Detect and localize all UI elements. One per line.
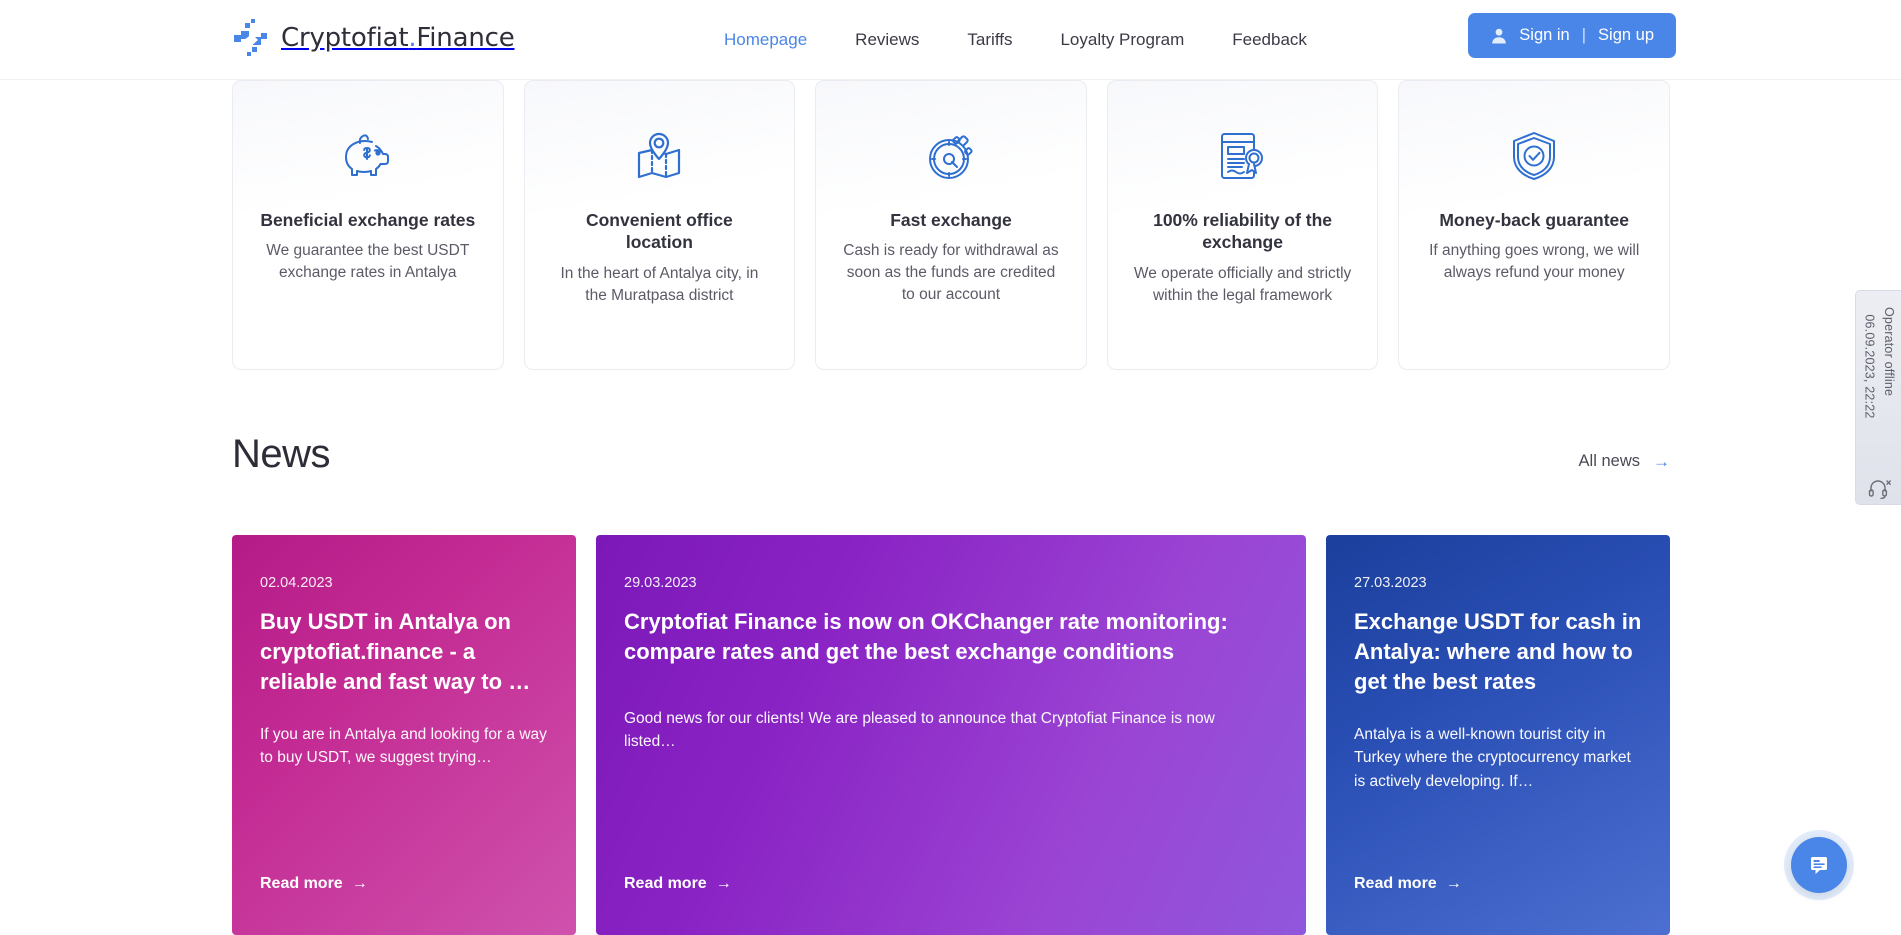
news-excerpt: If you are in Antalya and looking for a … [260, 723, 548, 770]
nav-item-tariffs[interactable]: Tariffs [943, 30, 1036, 50]
news-section-title: News [232, 432, 330, 477]
main-navigation: Homepage Reviews Tariffs Loyalty Program… [700, 0, 1331, 80]
operator-status-label: Operator offline [1882, 307, 1896, 396]
news-excerpt: Antalya is a well-known tourist city in … [1354, 723, 1642, 794]
sign-up-label: Sign up [1598, 26, 1654, 45]
feature-title: Convenient office location [552, 209, 767, 254]
nav-item-homepage[interactable]: Homepage [700, 30, 831, 50]
read-more-link[interactable]: Read more → [624, 875, 732, 893]
arrow-right-icon: → [716, 875, 732, 893]
nav-item-feedback[interactable]: Feedback [1208, 30, 1331, 50]
feature-description: We guarantee the best USDT exchange rate… [257, 240, 479, 284]
read-more-label: Read more [624, 875, 707, 893]
news-card[interactable]: 29.03.2023 Cryptofiat Finance is now on … [596, 535, 1306, 935]
brand-name: Cryptofiat.Finance [281, 23, 515, 53]
operator-status-text: Operator offline 06.09.2023, 22:22 [1859, 307, 1898, 465]
all-news-link[interactable]: All news → [1579, 452, 1670, 471]
operator-status-tab[interactable]: Operator offline 06.09.2023, 22:22 [1855, 290, 1901, 505]
news-card[interactable]: 02.04.2023 Buy USDT in Antalya on crypto… [232, 535, 576, 935]
headset-offline-icon [1867, 477, 1891, 504]
person-icon [1490, 27, 1508, 45]
read-more-label: Read more [260, 875, 343, 893]
news-date: 29.03.2023 [624, 575, 1278, 591]
chat-message-icon [1807, 853, 1831, 877]
feature-title: 100% reliability of the exchange [1135, 209, 1350, 254]
auth-separator: | [1582, 26, 1586, 45]
feature-title: Fast exchange [890, 209, 1012, 231]
news-title: Cryptofiat Finance is now on OKChanger r… [624, 607, 1264, 667]
feature-card-money-back-guarantee: Money-back guarantee If anything goes wr… [1398, 80, 1670, 370]
feature-description: In the heart of Antalya city, in the Mur… [548, 263, 770, 307]
feature-title: Beneficial exchange rates [260, 209, 475, 231]
crypto-blocks-logo-icon [232, 18, 270, 58]
all-news-label: All news [1579, 452, 1640, 471]
arrow-right-icon: → [352, 875, 368, 893]
shield-check-icon [1509, 125, 1559, 187]
piggy-bank-icon [340, 125, 396, 187]
feature-card-reliability: 100% reliability of the exchange We oper… [1107, 80, 1379, 370]
feature-title: Money-back guarantee [1439, 209, 1629, 231]
nav-item-loyalty-program[interactable]: Loyalty Program [1036, 30, 1208, 50]
sign-in-sign-up-button[interactable]: Sign in | Sign up [1468, 13, 1676, 58]
feature-description: Cash is ready for withdrawal as soon as … [840, 240, 1062, 306]
feature-description: We operate officially and strictly withi… [1132, 263, 1354, 307]
nav-item-reviews[interactable]: Reviews [831, 30, 943, 50]
arrow-right-icon: → [1446, 875, 1462, 893]
chat-fab-button[interactable] [1791, 837, 1847, 893]
certificate-icon [1217, 125, 1269, 187]
news-title: Buy USDT in Antalya on cryptofiat.financ… [260, 607, 548, 697]
news-excerpt: Good news for our clients! We are please… [624, 707, 1264, 754]
feature-card-beneficial-exchange-rates: Beneficial exchange rates We guarantee t… [232, 80, 504, 370]
operator-timestamp: 06.09.2023, 22:22 [1863, 314, 1877, 418]
read-more-label: Read more [1354, 875, 1437, 893]
news-title: Exchange USDT for cash in Antalya: where… [1354, 607, 1642, 697]
read-more-link[interactable]: Read more → [1354, 875, 1462, 893]
brand-logo-link[interactable]: Cryptofiat.Finance [232, 18, 515, 58]
news-cards-row: 02.04.2023 Buy USDT in Antalya on crypto… [232, 535, 1670, 935]
site-header: Cryptofiat.Finance Homepage Reviews Tari… [0, 0, 1901, 80]
feature-cards-section: Beneficial exchange rates We guarantee t… [232, 80, 1670, 374]
stopwatch-icon [925, 125, 977, 187]
feature-card-convenient-office-location: Convenient office location In the heart … [524, 80, 796, 370]
feature-card-fast-exchange: Fast exchange Cash is ready for withdraw… [815, 80, 1087, 370]
feature-description: If anything goes wrong, we will always r… [1423, 240, 1645, 284]
news-card[interactable]: 27.03.2023 Exchange USDT for cash in Ant… [1326, 535, 1670, 935]
news-date: 27.03.2023 [1354, 575, 1642, 591]
news-date: 02.04.2023 [260, 575, 548, 591]
news-section-header: News All news → [232, 432, 1670, 492]
arrow-right-icon: → [1653, 453, 1670, 470]
sign-in-label: Sign in [1519, 26, 1569, 45]
map-pin-icon [632, 125, 686, 187]
read-more-link[interactable]: Read more → [260, 875, 368, 893]
